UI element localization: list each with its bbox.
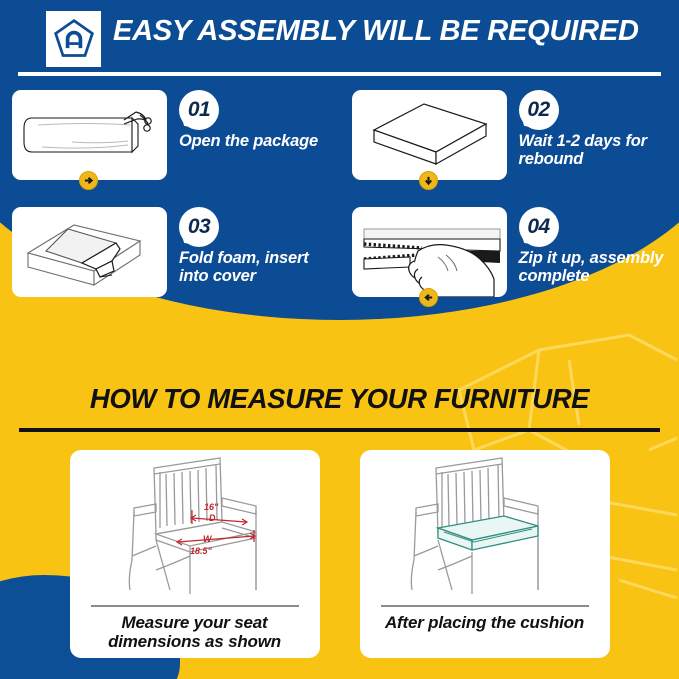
step-03-number: 03 (179, 207, 219, 247)
step-04-text: 04 Zip it up, assembly complete (519, 207, 669, 286)
foam-cushion-slab-icon (352, 90, 507, 180)
step-01-text: 01 Open the package (179, 90, 329, 151)
fold-foam-into-cover-icon (12, 207, 167, 297)
step-03-label: Fold foam, insert into cover (179, 250, 329, 286)
panel-2-caption: After placing the cushion (370, 613, 600, 632)
step-04-label: Zip it up, assembly complete (519, 250, 669, 286)
step-01: 01 Open the package (0, 88, 340, 205)
step-04-badge: 04 (519, 207, 566, 247)
step-02: 02 Wait 1-2 days for rebound (340, 88, 679, 205)
page-title: EASY ASSEMBLY WILL BE REQUIRED (113, 15, 663, 48)
measure-panel-cushion: After placing the cushion (360, 450, 610, 658)
arrow-left-icon (419, 288, 438, 307)
hand-zipping-cover-icon (352, 207, 507, 297)
step-03: 03 Fold foam, insert into cover (0, 205, 340, 322)
chair-with-dimensions-icon: 16" D W 18.5" (70, 450, 320, 600)
panel-1-caption: Measure your seat dimensions as shown (80, 613, 310, 651)
header: EASY ASSEMBLY WILL BE REQUIRED (0, 0, 679, 80)
header-divider (18, 72, 661, 76)
measure-section-title: HOW TO MEASURE YOUR FURNITURE (0, 383, 679, 415)
step-02-text: 02 Wait 1-2 days for rebound (519, 90, 669, 169)
step-04: 04 Zip it up, assembly complete (340, 205, 679, 322)
step-03-illustration-card (12, 207, 167, 297)
package-with-scissors-icon (12, 90, 167, 180)
step-01-label: Open the package (179, 133, 329, 151)
assembly-steps: 01 Open the package (0, 88, 679, 322)
infographic-canvas: EASY ASSEMBLY WILL BE REQUIRED (0, 0, 679, 679)
dimension-width-value: 18.5" (190, 546, 213, 556)
arrow-right-icon (79, 171, 98, 190)
arrow-down-icon (419, 171, 438, 190)
step-04-illustration-card (352, 207, 507, 297)
dimension-depth-letter: D (209, 513, 216, 523)
step-row-2: 03 Fold foam, insert into cover (0, 205, 679, 322)
house-pentagon-logo-icon (46, 11, 101, 67)
measure-panels: 16" D W 18.5" Measure your seat dimensio… (0, 450, 679, 658)
step-01-badge: 01 (179, 90, 226, 130)
panel-2-divider (381, 605, 589, 607)
step-02-illustration-card (352, 90, 507, 180)
step-04-number: 04 (519, 207, 559, 247)
step-02-label: Wait 1-2 days for rebound (519, 133, 669, 169)
step-02-badge: 02 (519, 90, 566, 130)
chair-with-cushion-icon (360, 450, 610, 600)
step-01-number: 01 (179, 90, 219, 130)
measure-panel-dimensions: 16" D W 18.5" Measure your seat dimensio… (70, 450, 320, 658)
step-02-number: 02 (519, 90, 559, 130)
step-03-text: 03 Fold foam, insert into cover (179, 207, 329, 286)
measure-section-divider (19, 428, 660, 432)
step-01-illustration-card (12, 90, 167, 180)
panel-1-divider (91, 605, 299, 607)
step-03-badge: 03 (179, 207, 226, 247)
step-row-1: 01 Open the package (0, 88, 679, 205)
dimension-depth-value: 16" (204, 502, 219, 512)
